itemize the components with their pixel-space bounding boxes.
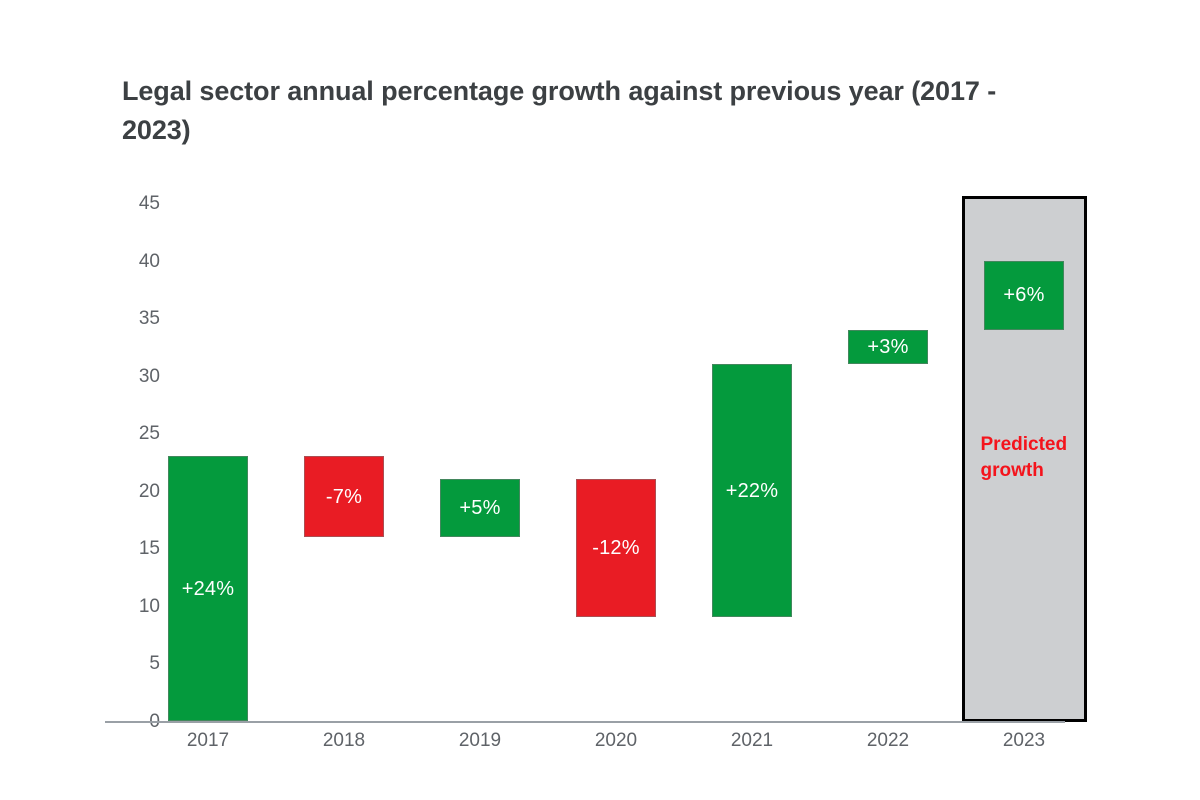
x-tick-label-2021: 2021 [682,731,822,750]
y-tick-label-10: 10 [100,597,160,616]
y-tick-label-15: 15 [100,539,160,558]
bar-value-label-2023: +6% [1003,285,1044,305]
y-tick-label-30: 30 [100,367,160,386]
y-tick-label-5: 5 [100,654,160,673]
chart-container: Legal sector annual percentage growth ag… [0,0,1200,800]
x-tick-label-2022: 2022 [818,731,958,750]
x-tick-label-2023: 2023 [954,731,1094,750]
bar-value-label-2020: -12% [592,538,640,558]
y-tick-label-40: 40 [100,252,160,271]
bar-2017: +24% [168,456,248,721]
bar-value-label-2018: -7% [326,487,362,507]
plot-area: Predicted growth 454035302520151050 +24%… [0,0,1200,800]
bar-2022: +3% [848,330,928,365]
bar-2018: -7% [304,456,384,537]
y-tick-label-20: 20 [100,482,160,501]
bar-value-label-2019: +5% [459,498,500,518]
x-tick-label-2019: 2019 [410,731,550,750]
x-tick-label-2018: 2018 [274,731,414,750]
bar-value-label-2017: +24% [182,579,235,599]
bar-2023: +6% [984,261,1064,330]
x-tick-label-2017: 2017 [138,731,278,750]
bar-2019: +5% [440,479,520,537]
bar-2020: -12% [576,479,656,617]
bar-value-label-2021: +22% [726,481,779,501]
y-axis: 454035302520151050 [100,0,160,800]
y-tick-label-25: 25 [100,424,160,443]
bar-2021: +22% [712,364,792,617]
y-tick-label-35: 35 [100,309,160,328]
y-tick-label-45: 45 [100,194,160,213]
predicted-growth-annotation: Predicted growth [981,432,1068,483]
x-axis-line [105,721,1065,723]
x-tick-label-2020: 2020 [546,731,686,750]
bar-value-label-2022: +3% [867,337,908,357]
